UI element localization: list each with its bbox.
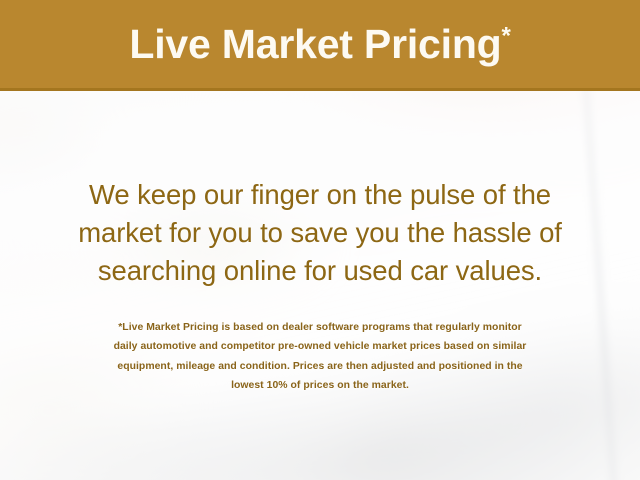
- headline-line: market for you to save you the hassle of: [0, 214, 640, 252]
- disclaimer-line: daily automotive and competitor pre-owne…: [0, 337, 640, 356]
- footnote-asterisk: *: [502, 22, 511, 49]
- disclaimer-line: equipment, mileage and condition. Prices…: [0, 357, 640, 376]
- disclaimer-line: lowest 10% of prices on the market.: [0, 376, 640, 395]
- disclaimer-line: *Live Market Pricing is based on dealer …: [0, 318, 640, 337]
- page-title: Live Market Pricing*: [129, 24, 510, 68]
- headline-block: We keep our finger on the pulse of the m…: [0, 176, 640, 290]
- disclaimer-block: *Live Market Pricing is based on dealer …: [0, 318, 640, 396]
- header-banner: Live Market Pricing*: [0, 0, 640, 91]
- headline-line: We keep our finger on the pulse of the: [0, 176, 640, 214]
- headline-line: searching online for used car values.: [0, 252, 640, 290]
- header-banner-underline: [0, 88, 640, 91]
- live-market-pricing-card: Live Market Pricing* We keep our finger …: [0, 0, 640, 480]
- page-title-text: Live Market Pricing: [129, 21, 501, 67]
